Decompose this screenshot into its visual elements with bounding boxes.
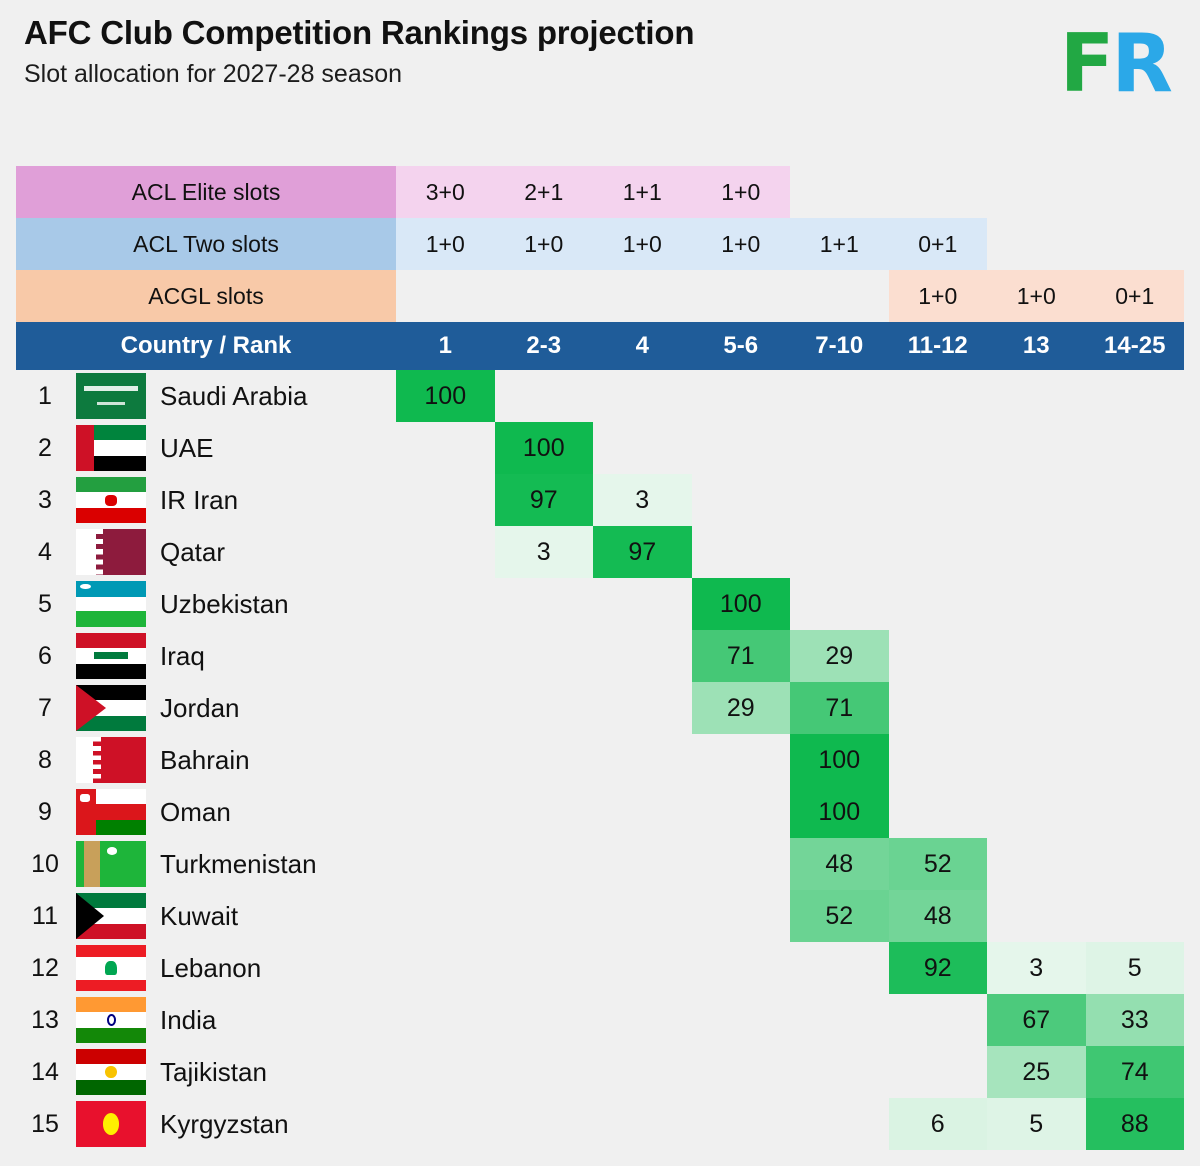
- slot-cell-acl-two-col4: 1+0: [692, 218, 791, 270]
- slot-cell-acl-two-col2: 1+0: [495, 218, 594, 270]
- slot-row-acgl: ACGL slots1+01+00+1: [16, 270, 1184, 322]
- column-header-1[interactable]: 1: [396, 322, 495, 370]
- flag-kyrgyzstan: [76, 1101, 146, 1147]
- row-rank: 2: [16, 422, 74, 474]
- country-name: Iraq: [160, 630, 205, 682]
- flag-oman: [76, 789, 146, 835]
- slot-cell-acl-two-col3: 1+0: [593, 218, 692, 270]
- country-flag-lb: [76, 945, 146, 991]
- slot-cell-acl-elite-col2: 2+1: [495, 166, 594, 218]
- flag-saudi-arabia: [76, 373, 146, 419]
- table-row[interactable]: 7Jordan2971: [16, 682, 1184, 734]
- flag-uae: [76, 425, 146, 471]
- slot-cell-acl-two-col6: 0+1: [889, 218, 988, 270]
- heat-cell: 5: [1086, 942, 1185, 994]
- rankings-table: ACL Elite slots3+02+11+11+0ACL Two slots…: [16, 166, 1184, 1150]
- heat-cell: 100: [790, 734, 889, 786]
- heat-cell: 71: [790, 682, 889, 734]
- country-flag-uz: [76, 581, 146, 627]
- page-title: AFC Club Competition Rankings projection: [24, 14, 694, 52]
- row-rank: 5: [16, 578, 74, 630]
- slot-cell-acl-elite-col4: 1+0: [692, 166, 791, 218]
- heat-cell: 92: [889, 942, 988, 994]
- fr-logo: FR: [1060, 24, 1170, 104]
- flag-jordan: [76, 685, 146, 731]
- slot-row-label-acl-elite: ACL Elite slots: [16, 166, 396, 218]
- page-subtitle: Slot allocation for 2027-28 season: [24, 60, 694, 89]
- country-name: Oman: [160, 786, 231, 838]
- row-rank: 11: [16, 890, 74, 942]
- slot-cell-acl-two-col1: 1+0: [396, 218, 495, 270]
- table-row[interactable]: 2UAE100: [16, 422, 1184, 474]
- flag-india: [76, 997, 146, 1043]
- heat-cell: 100: [495, 422, 594, 474]
- heat-cell: 52: [790, 890, 889, 942]
- row-rank: 8: [16, 734, 74, 786]
- country-name: Lebanon: [160, 942, 261, 994]
- country-name: IR Iran: [160, 474, 238, 526]
- table-row[interactable]: 8Bahrain100: [16, 734, 1184, 786]
- heat-cell: 100: [692, 578, 791, 630]
- country-flag-bh: [76, 737, 146, 783]
- heat-cell: 25: [987, 1046, 1086, 1098]
- heat-cell: 100: [396, 370, 495, 422]
- row-rank: 12: [16, 942, 74, 994]
- table-row[interactable]: 4Qatar397: [16, 526, 1184, 578]
- country-name: Kuwait: [160, 890, 238, 942]
- row-rank: 10: [16, 838, 74, 890]
- country-flag-tj: [76, 1049, 146, 1095]
- logo-letter-r: R: [1111, 17, 1170, 110]
- country-name: Jordan: [160, 682, 240, 734]
- slot-cell-acl-two-col5: 1+1: [790, 218, 889, 270]
- country-flag-om: [76, 789, 146, 835]
- row-rank: 9: [16, 786, 74, 838]
- heat-cell: 67: [987, 994, 1086, 1046]
- country-flag-qa: [76, 529, 146, 575]
- country-name: Bahrain: [160, 734, 250, 786]
- row-rank: 6: [16, 630, 74, 682]
- column-header-2-3[interactable]: 2-3: [495, 322, 594, 370]
- heat-cell: 29: [692, 682, 791, 734]
- slot-cell-acl-elite-col3: 1+1: [593, 166, 692, 218]
- slot-cell-acl-elite-col1: 3+0: [396, 166, 495, 218]
- flag-turkmenistan: [76, 841, 146, 887]
- table-row[interactable]: 14Tajikistan2574: [16, 1046, 1184, 1098]
- heat-cell: 97: [495, 474, 594, 526]
- heat-cell: 5: [987, 1098, 1086, 1150]
- country-name: Qatar: [160, 526, 225, 578]
- column-header-13[interactable]: 13: [987, 322, 1086, 370]
- country-flag-kg: [76, 1101, 146, 1147]
- country-name: UAE: [160, 422, 213, 474]
- heat-cell: 3: [495, 526, 594, 578]
- country-flag-kw: [76, 893, 146, 939]
- infographic-root: AFC Club Competition Rankings projection…: [0, 0, 1200, 1166]
- country-name: Kyrgyzstan: [160, 1098, 289, 1150]
- table-row[interactable]: 9Oman100: [16, 786, 1184, 838]
- country-flag-tm: [76, 841, 146, 887]
- row-rank: 7: [16, 682, 74, 734]
- logo-letter-f: F: [1060, 17, 1112, 110]
- table-row[interactable]: 12Lebanon9235: [16, 942, 1184, 994]
- table-row[interactable]: 6Iraq7129: [16, 630, 1184, 682]
- country-name: Saudi Arabia: [160, 370, 307, 422]
- column-header-14-25[interactable]: 14-25: [1086, 322, 1185, 370]
- column-header-5-6[interactable]: 5-6: [692, 322, 791, 370]
- country-name: Turkmenistan: [160, 838, 317, 890]
- flag-ir-iran: [76, 477, 146, 523]
- slot-cell-acgl-col8: 0+1: [1086, 270, 1185, 322]
- heat-cell: 29: [790, 630, 889, 682]
- row-rank: 15: [16, 1098, 74, 1150]
- column-header-7-10[interactable]: 7-10: [790, 322, 889, 370]
- flag-bahrain: [76, 737, 146, 783]
- country-flag-jo: [76, 685, 146, 731]
- country-flag-iq: [76, 633, 146, 679]
- slot-cell-acgl-col7: 1+0: [987, 270, 1086, 322]
- heat-cell: 48: [889, 890, 988, 942]
- heat-cell: 48: [790, 838, 889, 890]
- header-corner-label: Country / Rank: [16, 322, 396, 370]
- heat-cell: 97: [593, 526, 692, 578]
- table-row[interactable]: 5Uzbekistan100: [16, 578, 1184, 630]
- slot-cell-acgl-col6: 1+0: [889, 270, 988, 322]
- table-row[interactable]: 13India6733: [16, 994, 1184, 1046]
- slot-row-label-acl-two: ACL Two slots: [16, 218, 396, 270]
- slot-row-label-acgl: ACGL slots: [16, 270, 396, 322]
- flag-iraq: [76, 633, 146, 679]
- heat-cell: 33: [1086, 994, 1185, 1046]
- flag-uzbekistan: [76, 581, 146, 627]
- heat-cell: 88: [1086, 1098, 1185, 1150]
- country-name: Tajikistan: [160, 1046, 267, 1098]
- flag-lebanon: [76, 945, 146, 991]
- row-rank: 1: [16, 370, 74, 422]
- country-name: Uzbekistan: [160, 578, 289, 630]
- heat-cell: 71: [692, 630, 791, 682]
- column-header-11-12[interactable]: 11-12: [889, 322, 988, 370]
- table-row[interactable]: 3IR Iran973: [16, 474, 1184, 526]
- header-block: AFC Club Competition Rankings projection…: [24, 14, 694, 89]
- row-rank: 13: [16, 994, 74, 1046]
- row-rank: 14: [16, 1046, 74, 1098]
- table-header-row: Country / Rank12-345-67-1011-121314-25: [16, 322, 1184, 370]
- country-flag-in: [76, 997, 146, 1043]
- table-row[interactable]: 15Kyrgyzstan6588: [16, 1098, 1184, 1150]
- country-name: India: [160, 994, 216, 1046]
- country-flag-sa: [76, 373, 146, 419]
- heat-cell: 3: [987, 942, 1086, 994]
- heat-cell: 6: [889, 1098, 988, 1150]
- row-rank: 3: [16, 474, 74, 526]
- flag-kuwait: [76, 893, 146, 939]
- country-flag-ae: [76, 425, 146, 471]
- flag-qatar: [76, 529, 146, 575]
- slot-row-acl-elite: ACL Elite slots3+02+11+11+0: [16, 166, 1184, 218]
- column-header-4[interactable]: 4: [593, 322, 692, 370]
- heat-cell: 74: [1086, 1046, 1185, 1098]
- heat-cell: 52: [889, 838, 988, 890]
- flag-tajikistan: [76, 1049, 146, 1095]
- heat-cell: 3: [593, 474, 692, 526]
- slot-row-acl-two: ACL Two slots1+01+01+01+01+10+1: [16, 218, 1184, 270]
- table-row[interactable]: 10Turkmenistan4852: [16, 838, 1184, 890]
- country-flag-ir: [76, 477, 146, 523]
- table-row[interactable]: 11Kuwait5248: [16, 890, 1184, 942]
- heat-cell: 100: [790, 786, 889, 838]
- table-row[interactable]: 1Saudi Arabia100: [16, 370, 1184, 422]
- row-rank: 4: [16, 526, 74, 578]
